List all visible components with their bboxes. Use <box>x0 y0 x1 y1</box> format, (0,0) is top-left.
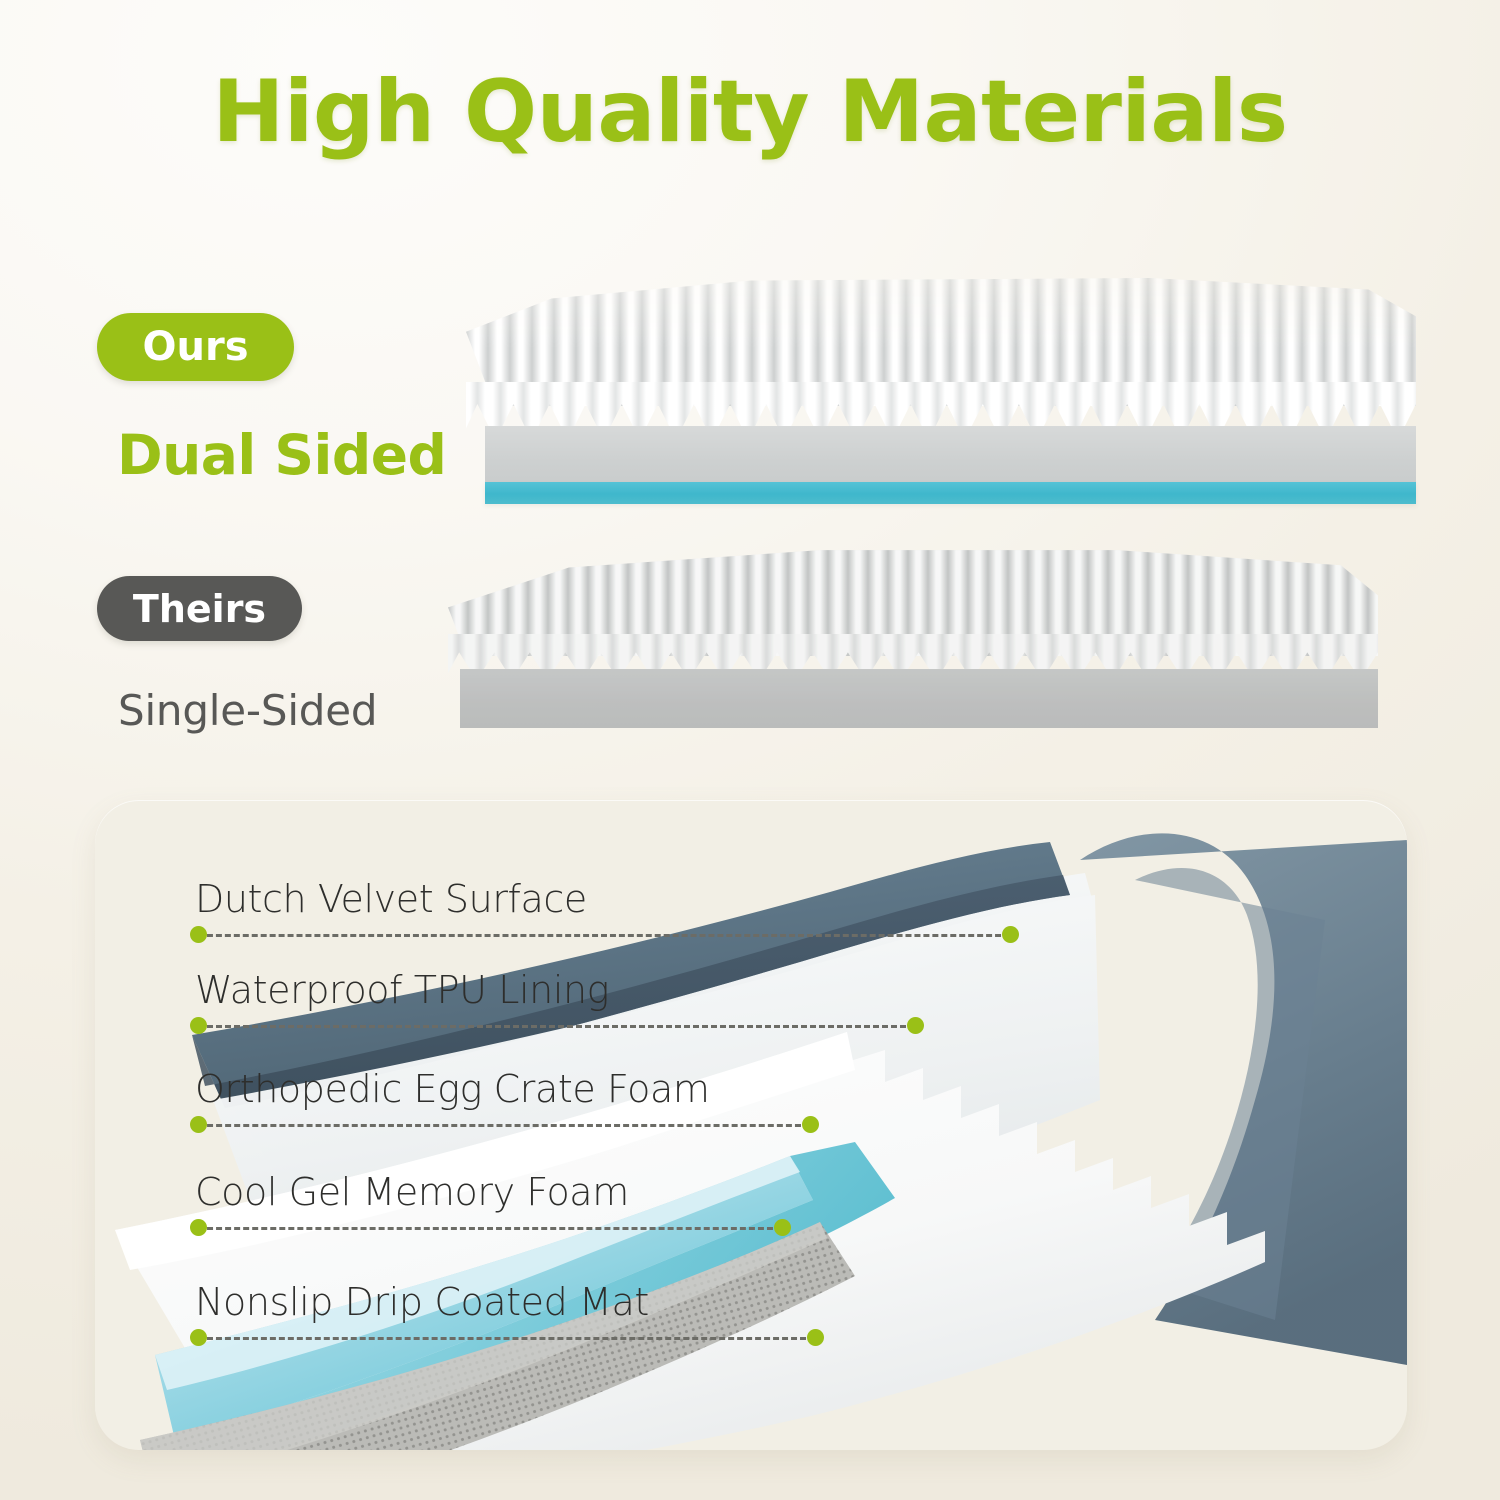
callout-dot-start-3 <box>190 1219 207 1236</box>
callout-dashed-line-2 <box>198 1124 810 1127</box>
callout-dot-end-2 <box>802 1116 819 1133</box>
badge-ours-label: Ours <box>142 324 248 370</box>
callout-dot-end-3 <box>774 1219 791 1236</box>
callout-dot-end-1 <box>907 1017 924 1034</box>
callout-label-3: Cool Gel Memory Foam <box>195 1170 629 1214</box>
foam-illustration-ours <box>466 278 1416 508</box>
callout-dashed-line-1 <box>198 1025 915 1028</box>
callout-dot-start-4 <box>190 1329 207 1346</box>
callout-dashed-line-3 <box>198 1227 782 1230</box>
label-single-sided: Single-Sided <box>118 686 377 735</box>
callout-dot-end-0 <box>1002 926 1019 943</box>
callout-dot-start-2 <box>190 1116 207 1133</box>
callout-dashed-line-4 <box>198 1337 815 1340</box>
callout-dot-end-4 <box>807 1329 824 1346</box>
page-title: High Quality Materials <box>0 62 1500 162</box>
gel-layer-ours <box>485 482 1416 504</box>
callout-label-1: Waterproof TPU Lining <box>195 968 609 1012</box>
label-dual-sided: Dual Sided <box>117 423 446 487</box>
foam-illustration-theirs <box>448 548 1378 738</box>
callout-label-2: Orthopedic Egg Crate Foam <box>195 1067 709 1111</box>
infographic-page: High Quality Materials Ours Dual Sided T… <box>0 0 1500 1500</box>
foam-body-theirs <box>460 669 1378 728</box>
callout-dashed-line-0 <box>198 934 1010 937</box>
callout-label-4: Nonslip Drip Coated Mat <box>195 1280 649 1324</box>
callout-dot-start-1 <box>190 1017 207 1034</box>
badge-theirs: Theirs <box>97 576 302 641</box>
callout-label-0: Dutch Velvet Surface <box>195 877 587 921</box>
callout-dot-start-0 <box>190 926 207 943</box>
badge-theirs-label: Theirs <box>133 587 266 631</box>
foam-body-ours <box>485 426 1416 485</box>
badge-ours: Ours <box>97 313 294 381</box>
